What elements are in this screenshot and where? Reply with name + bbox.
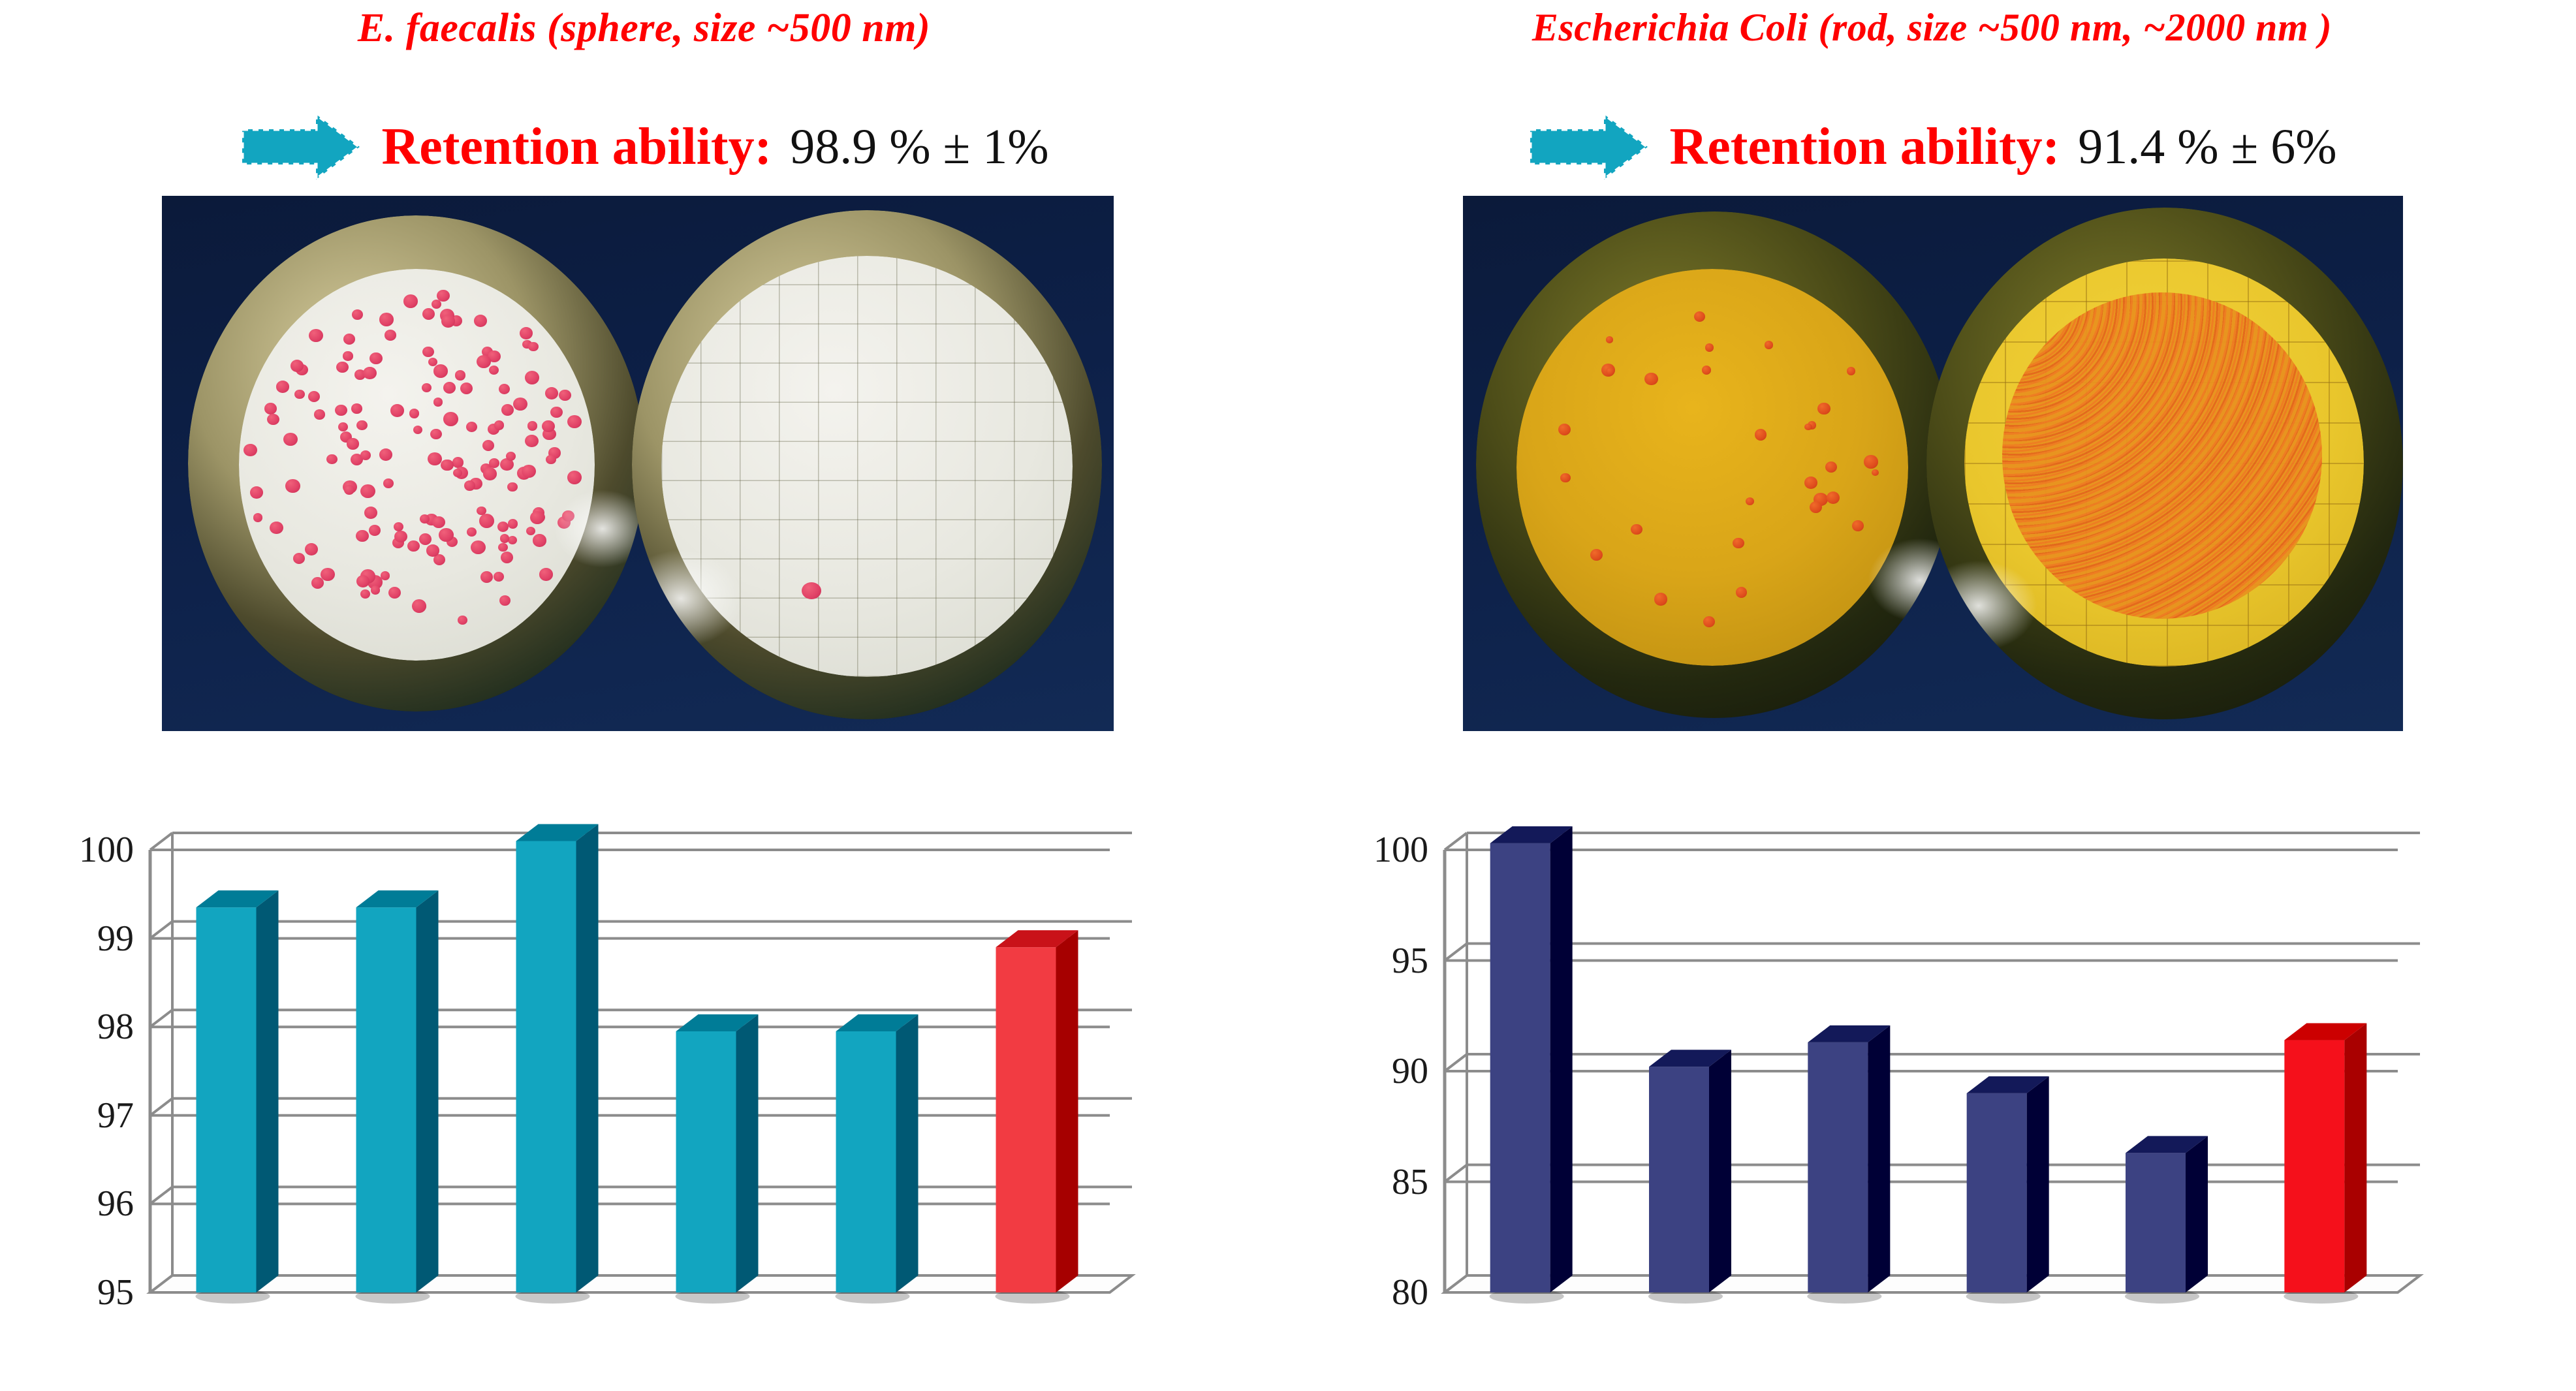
y-axis-tick-label: 80 (1304, 1272, 1428, 1313)
colony (1654, 593, 1667, 605)
colony (443, 382, 456, 394)
bar (995, 930, 1078, 1304)
bar-front (2284, 1040, 2344, 1292)
glare-highlight (554, 490, 645, 568)
colony (533, 534, 546, 546)
colony (360, 484, 375, 498)
bar-side (896, 1014, 919, 1292)
colony (433, 398, 443, 406)
gridline-depth (1445, 1165, 1467, 1182)
colony (528, 342, 539, 352)
colony (426, 544, 439, 556)
colony (1847, 367, 1855, 375)
colony (407, 540, 419, 552)
colony (390, 404, 405, 417)
colony (455, 370, 466, 381)
bar-front (1649, 1067, 1709, 1292)
gridline-depth (1445, 833, 1467, 850)
bar (2284, 1024, 2366, 1304)
right-arrow-dashed-icon (1527, 111, 1651, 183)
colony (550, 407, 563, 418)
colony (403, 294, 418, 307)
colony (467, 527, 477, 537)
colony (567, 471, 582, 484)
colony (1733, 538, 1744, 549)
bar-front (836, 1031, 896, 1292)
colony (508, 519, 518, 528)
colony (314, 409, 325, 420)
colony (1804, 424, 1812, 431)
colony (1755, 429, 1767, 441)
bar (195, 890, 278, 1304)
colony (250, 486, 263, 498)
bar (1490, 826, 1573, 1304)
colony (525, 371, 540, 384)
right-arrow-dashed-icon (239, 111, 363, 183)
colony (379, 313, 394, 326)
colony (409, 409, 419, 418)
colony (383, 478, 394, 488)
colony (413, 426, 422, 434)
chart-escherichia-coli: 80859095100 (1288, 751, 2576, 1377)
colony (428, 358, 437, 366)
bar (1807, 1025, 1890, 1304)
colony (270, 522, 283, 534)
bar-front (1808, 1042, 1868, 1292)
colony (466, 422, 477, 432)
retention-ability-value: 91.4 % ± 6% (2078, 122, 2336, 172)
y-axis-tick-label: 100 (1304, 829, 1428, 871)
colony (1864, 455, 1877, 468)
colony (452, 457, 463, 467)
single-colony (802, 582, 821, 599)
bar-side (576, 824, 599, 1292)
bacterial-lawn (2002, 292, 2322, 619)
bar-front (516, 841, 576, 1292)
petri-dish-photo-strip (1463, 196, 2403, 731)
y-axis-tick-label: 95 (10, 1272, 134, 1313)
colony (507, 482, 517, 492)
colony (343, 334, 355, 345)
colony (344, 485, 354, 495)
bar-side (257, 890, 279, 1292)
dish-membrane (239, 269, 595, 661)
colony (356, 420, 368, 430)
y-axis-tick-label: 98 (10, 1006, 134, 1048)
bar-front (196, 907, 257, 1292)
species-title: Escherichia Coli (rod, size ~500 nm, ~20… (1288, 5, 2576, 50)
panel-escherichia-coli: Escherichia Coli (rod, size ~500 nm, ~20… (1288, 0, 2576, 1391)
colony (394, 531, 407, 542)
colony (291, 360, 304, 372)
colony (1810, 501, 1822, 513)
colony (243, 444, 257, 456)
colony (428, 452, 442, 465)
colony (471, 540, 486, 554)
bar-front (676, 1031, 736, 1292)
colony (253, 513, 263, 522)
colony (433, 364, 448, 377)
bar (515, 824, 598, 1304)
bar-side (1056, 930, 1078, 1292)
bar-side (2186, 1136, 2208, 1292)
colony (1560, 473, 1570, 483)
colony (539, 568, 553, 580)
colony (1746, 497, 1754, 505)
bar-side (2027, 1076, 2049, 1292)
petri-dish-feed-sample (1476, 211, 1953, 718)
colony (343, 351, 353, 360)
colony (326, 454, 338, 464)
colony (356, 530, 369, 542)
colony (369, 525, 381, 536)
y-axis-tick-label: 85 (1304, 1161, 1428, 1203)
colony (336, 362, 349, 373)
colony (1590, 549, 1603, 561)
colony (1765, 341, 1773, 349)
bar (1966, 1076, 2049, 1304)
bar (675, 1014, 758, 1304)
colony (501, 404, 514, 416)
retention-row: Retention ability: 98.9 % ± 1% (0, 111, 1288, 183)
bar (355, 890, 438, 1304)
colony (1852, 520, 1864, 531)
y-axis-tick-label: 99 (10, 918, 134, 960)
colony (513, 398, 527, 411)
colony (264, 403, 277, 414)
chart-e-faecalis: 9596979899100 (0, 751, 1288, 1377)
bar-side (1550, 826, 1573, 1292)
bar-chart-svg (1288, 751, 2576, 1377)
bar-side (1709, 1050, 1731, 1292)
colony (499, 595, 510, 606)
colony (494, 420, 504, 430)
colony (347, 438, 358, 449)
petri-dish-permeate-sample (632, 210, 1102, 719)
petri-dish-feed-sample (188, 215, 645, 711)
species-title: E. faecalis (sphere, size ~500 nm) (0, 5, 1288, 52)
retention-ability-label: Retention ability: (381, 121, 772, 173)
dish-medium (1516, 269, 1908, 666)
bar (1648, 1050, 1731, 1304)
chart-floor (150, 1275, 1132, 1292)
colony (385, 330, 396, 340)
gridline-depth (150, 922, 172, 939)
y-axis-tick-label: 90 (1304, 1050, 1428, 1092)
gridline-depth (150, 833, 172, 850)
colony (364, 507, 377, 519)
gridline-depth (150, 1099, 172, 1116)
colony (351, 403, 362, 413)
bar-front (2126, 1153, 2186, 1292)
colony (464, 480, 475, 491)
y-axis-tick-label: 96 (10, 1183, 134, 1225)
colony (1705, 343, 1714, 352)
colony (482, 440, 494, 451)
bar-side (1868, 1025, 1890, 1292)
bar-chart-svg (0, 751, 1288, 1377)
colony (479, 514, 494, 527)
colony (1804, 477, 1817, 489)
petri-dish-permeate-sample (1926, 208, 2403, 719)
colony (567, 415, 582, 428)
colony (294, 390, 304, 399)
gridline-depth (150, 1187, 172, 1204)
colony (530, 511, 544, 524)
bar (835, 1014, 918, 1304)
colony (293, 553, 306, 564)
retention-row: Retention ability: 91.4 % ± 6% (1288, 111, 2576, 183)
colony (453, 469, 462, 477)
colony (371, 586, 381, 595)
colony (305, 543, 318, 555)
colony (483, 467, 497, 480)
bar (2125, 1136, 2208, 1304)
y-axis-tick-label: 100 (10, 829, 134, 871)
colony (1606, 367, 1614, 375)
colony (500, 534, 509, 542)
bar-front (1490, 843, 1550, 1292)
gridline-depth (150, 1010, 172, 1027)
colony (394, 522, 403, 531)
bar-side (416, 890, 439, 1292)
colony (477, 355, 491, 368)
colony (309, 329, 323, 343)
colony (441, 460, 453, 471)
bar-front (996, 947, 1056, 1292)
colony (321, 568, 334, 581)
retention-ability-label: Retention ability: (1669, 121, 2060, 173)
y-axis-tick-label: 95 (1304, 940, 1428, 982)
colony (1606, 336, 1614, 343)
colony (498, 543, 508, 552)
colony (422, 347, 433, 357)
colony (458, 616, 467, 625)
colony (363, 367, 377, 380)
colony (285, 479, 300, 493)
colony (525, 435, 539, 447)
chart-floor (1445, 1275, 2420, 1292)
colony (480, 571, 493, 583)
bar-front (356, 907, 416, 1292)
colony (520, 327, 533, 339)
colony (441, 315, 455, 328)
y-axis-tick-label: 97 (10, 1095, 134, 1136)
colony (545, 387, 559, 399)
colony (1702, 366, 1711, 374)
retention-ability-value: 98.9 % ± 1% (790, 122, 1048, 172)
colony (360, 589, 370, 599)
colony (522, 465, 536, 478)
bar-side (2344, 1024, 2366, 1292)
colony (379, 448, 392, 461)
bar-front (1967, 1093, 2027, 1292)
petri-dish-photo-strip (162, 196, 1114, 731)
colony (1736, 587, 1747, 597)
bar-side (736, 1014, 759, 1292)
colony (1817, 403, 1830, 414)
colony (439, 528, 453, 542)
colony (527, 421, 538, 430)
colony (356, 575, 369, 587)
colony (489, 366, 499, 375)
gridline-depth (1445, 944, 1467, 961)
colony (1644, 373, 1658, 386)
colony (267, 414, 279, 425)
colony (276, 381, 289, 392)
colony (432, 300, 441, 309)
colony (460, 383, 473, 394)
gridline-depth (1445, 1054, 1467, 1071)
panel-e-faecalis: E. faecalis (sphere, size ~500 nm) Reten… (0, 0, 1288, 1391)
yellow-agar (1516, 269, 1908, 666)
colony (443, 412, 458, 426)
